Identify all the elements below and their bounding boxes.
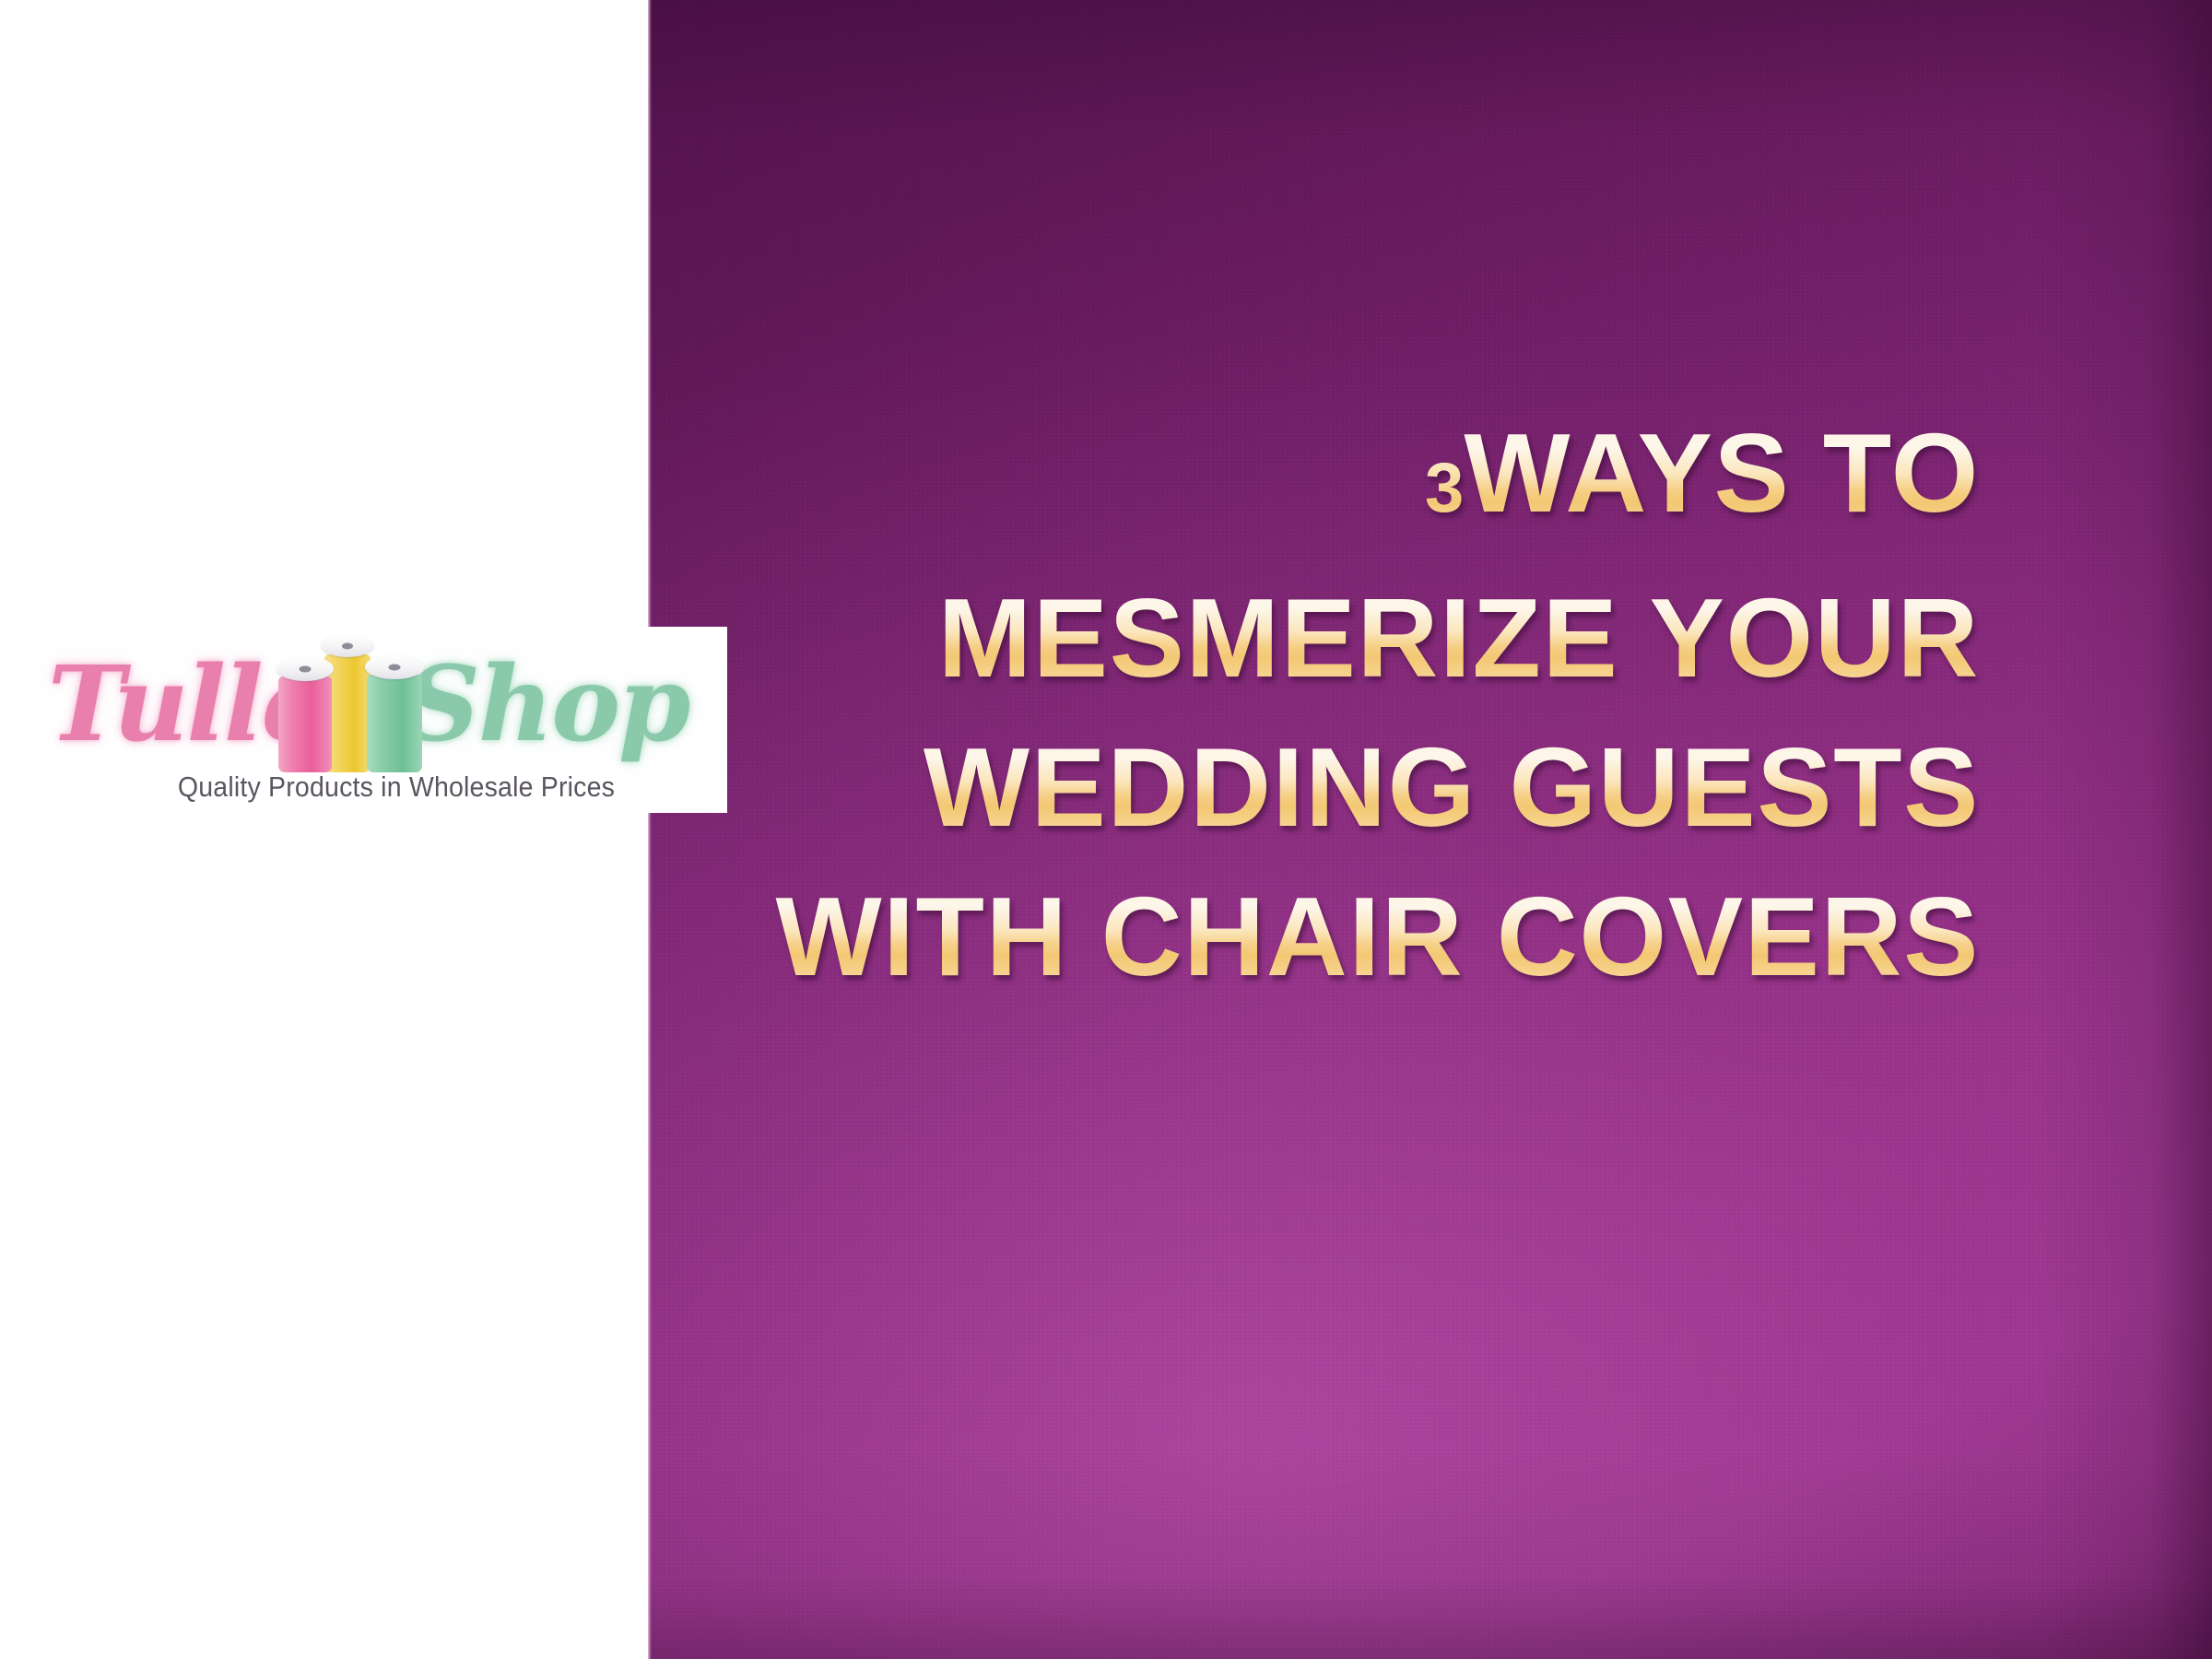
title-line-1-text: WAYS TO bbox=[1464, 410, 1980, 535]
yellow-spool-cap bbox=[322, 634, 373, 657]
title-line-2: MESMERIZE YOUR bbox=[542, 563, 1980, 712]
green-spool-body bbox=[367, 675, 422, 772]
slide-title: 3WAYS TO MESMERIZE YOUR WEDDING GUESTS W… bbox=[542, 398, 1980, 1011]
title-numeral: 3 bbox=[1425, 449, 1464, 527]
logo-tagline: Quality Products in Wholesale Prices bbox=[142, 771, 651, 804]
title-line-1: 3WAYS TO bbox=[542, 398, 1980, 563]
title-line-4: WITH CHAIR COVERS bbox=[542, 862, 1980, 1011]
logo: Tulle Shop bbox=[48, 630, 693, 811]
tulle-spools-icon bbox=[275, 632, 429, 772]
green-spool-cap bbox=[365, 654, 424, 679]
pink-spool-body bbox=[278, 677, 332, 772]
green-tulle-spool bbox=[367, 654, 422, 772]
pink-tulle-spool bbox=[278, 656, 332, 772]
green-spool-hole bbox=[389, 664, 401, 670]
presentation-slide: 3WAYS TO MESMERIZE YOUR WEDDING GUESTS W… bbox=[0, 0, 2212, 1659]
yellow-spool-hole bbox=[342, 642, 353, 649]
logo-card: Tulle Shop bbox=[0, 627, 727, 813]
logo-wordmark: Tulle Shop bbox=[48, 630, 693, 769]
pink-spool-cap bbox=[276, 656, 334, 681]
logo-word-shop: Shop bbox=[406, 636, 688, 774]
title-line-3: WEDDING GUESTS bbox=[542, 712, 1980, 862]
pink-spool-hole bbox=[300, 665, 312, 672]
